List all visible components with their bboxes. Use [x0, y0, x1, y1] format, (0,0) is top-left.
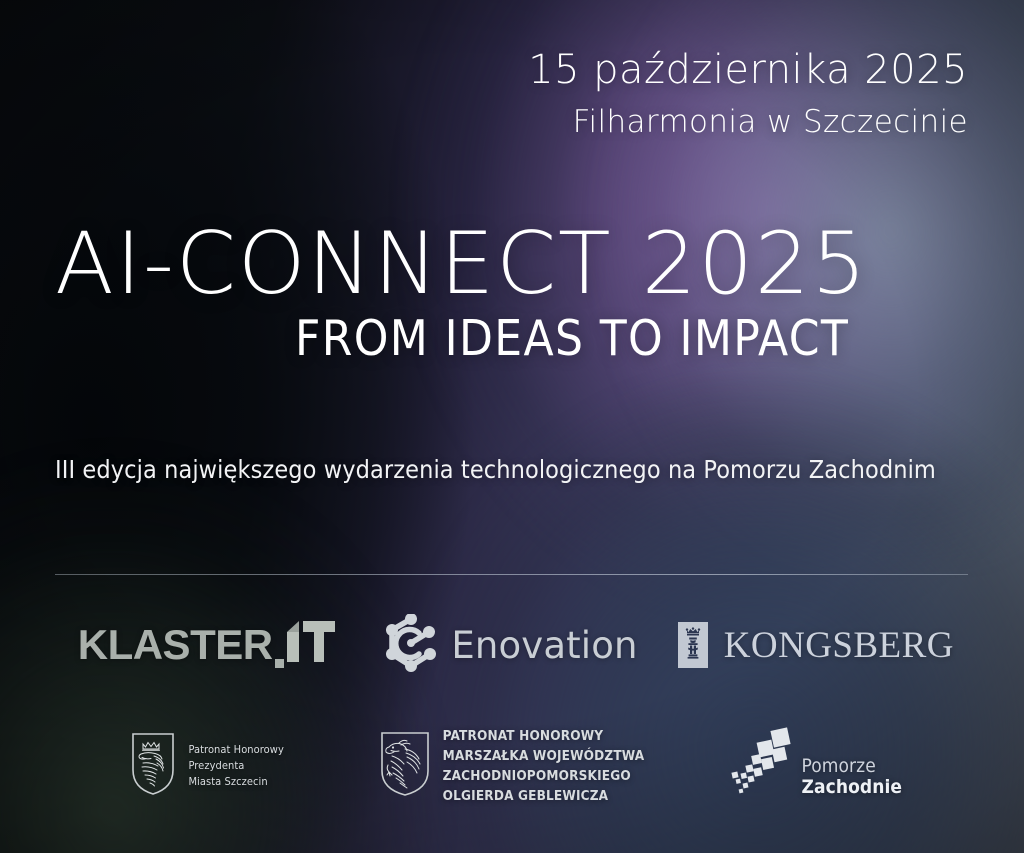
kongsberg-crowned-monogram-crest-icon — [678, 622, 708, 668]
sponsor-logo-row: KLASTER — [55, 600, 968, 690]
klaster-it-glyph-icon — [285, 620, 337, 664]
event-description: III edycja największego wydarzenia techn… — [55, 452, 936, 488]
event-poster: 15 października 2025 Filharmonia w Szcze… — [0, 0, 1024, 853]
page-title: AI-CONNECT 2025 — [55, 224, 868, 306]
patronage-szczecin-line-1: Patronat Honorowy — [188, 742, 283, 758]
patronage-pomorze-zachodnie: Pomorze Zachodnie — [664, 706, 968, 826]
page-subtitle: FROM IDEAS TO IMPACT — [55, 314, 868, 363]
klaster-word-main: KLASTER — [78, 624, 273, 666]
patronage-marszalek-line-3: ZACHODNIOPOMORSKIEGO — [443, 766, 645, 786]
enovation-wordmark: Enovation — [451, 627, 637, 664]
description-line-1: III edycja największego wydarzenia techn… — [55, 455, 661, 484]
patronage-marszalek-text: PATRONAT HONOROWY MARSZAŁKA WOJEWÓDZTWA … — [443, 726, 645, 807]
szczecin-griffin-shield-icon — [130, 732, 176, 801]
pomorze-zachodnie-wordmark: Pomorze Zachodnie — [802, 756, 903, 799]
event-header: 15 października 2025 Filharmonia w Szcze… — [528, 48, 968, 140]
patronage-marszalek-line-4: OLGIERDA GEBLEWICZA — [443, 786, 645, 806]
sponsor-logo-enovation: Enovation — [359, 600, 663, 690]
klaster-dot-icon — [275, 659, 284, 668]
description-line-2: na Pomorzu Zachodnim — [668, 455, 936, 484]
kongsberg-wordmark: KONGSBERG — [724, 627, 954, 664]
sponsor-logo-klaster-it: KLASTER — [55, 600, 359, 690]
patronage-szczecin-text: Patronat Honorowy Prezydenta Miasta Szcz… — [188, 742, 283, 790]
kongsberg-logo: KONGSBERG — [678, 622, 954, 668]
poster-content: 15 października 2025 Filharmonia w Szcze… — [0, 0, 1024, 853]
patronage-marszalek-line-2: MARSZAŁKA WOJEWÓDZTWA — [443, 746, 645, 766]
pomorze-zachodnie-line-1: Pomorze — [802, 756, 876, 777]
patronage-logo-row: Patronat Honorowy Prezydenta Miasta Szcz… — [55, 706, 968, 826]
klaster-word-accent — [285, 620, 337, 671]
enovation-logo: Enovation — [385, 614, 637, 677]
pomorze-zachodnie-squares-icon — [730, 727, 792, 806]
event-venue: Filharmonia w Szczecinie — [528, 105, 968, 140]
patronage-szczecin-line-2: Prezydenta — [188, 758, 283, 774]
enovation-hex-node-icon — [385, 614, 437, 677]
zachodniopomorskie-griffin-shield-icon — [379, 731, 431, 802]
event-date: 15 października 2025 — [528, 48, 968, 93]
title-block: AI-CONNECT 2025 FROM IDEAS TO IMPACT — [55, 224, 868, 363]
pomorze-zachodnie-logo: Pomorze Zachodnie — [730, 727, 903, 806]
klaster-it-wordmark: KLASTER — [78, 620, 337, 671]
patronage-szczecin: Patronat Honorowy Prezydenta Miasta Szcz… — [55, 706, 359, 826]
section-divider — [55, 574, 968, 575]
patronage-marszalek: PATRONAT HONOROWY MARSZAŁKA WOJEWÓDZTWA … — [359, 706, 663, 826]
patronage-szczecin-line-3: Miasta Szczecin — [188, 774, 283, 790]
pomorze-zachodnie-line-2: Zachodnie — [802, 777, 903, 798]
sponsor-logo-kongsberg: KONGSBERG — [664, 600, 968, 690]
patronage-marszalek-line-1: PATRONAT HONOROWY — [443, 726, 645, 746]
